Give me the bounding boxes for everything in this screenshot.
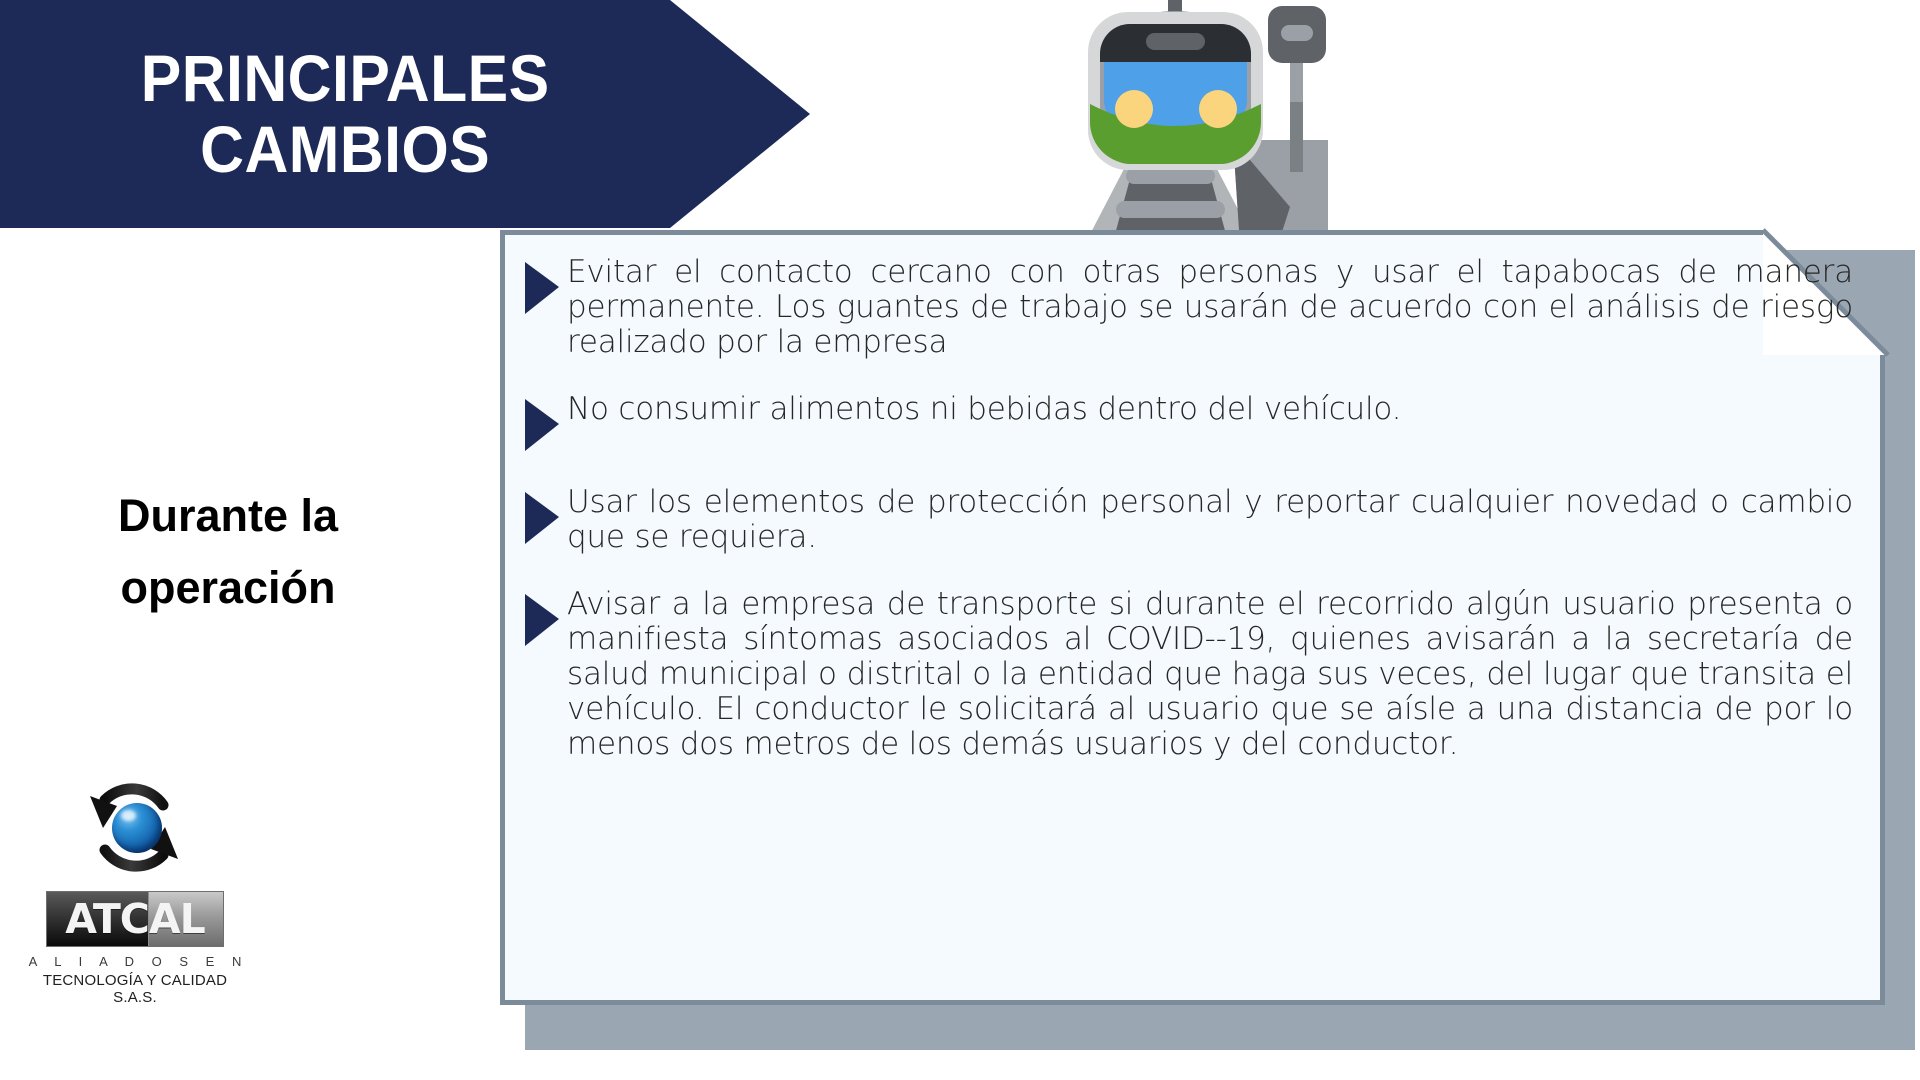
list-item-text: Evitar el contacto cercano con otras per… (567, 255, 1853, 360)
header-banner: PRINCIPALES CAMBIOS (0, 0, 810, 228)
triangle-bullet-icon (523, 260, 561, 316)
atcal-logo-mark (65, 770, 205, 885)
brand-logo: ATCAL A L I A D O S E N TECNOLOGÍA Y CAL… (20, 770, 250, 1006)
list-item: No consumir alimentos ni bebidas dentro … (523, 392, 1853, 453)
brand-tagline-line1: A L I A D O S E N (20, 954, 250, 969)
list-item: Usar los elementos de protección persona… (523, 485, 1853, 555)
triangle-bullet-icon (523, 397, 561, 453)
list-item-text: Usar los elementos de protección persona… (567, 485, 1853, 555)
brand-tagline-line2: TECNOLOGÍA Y CALIDAD S.A.S. (20, 972, 250, 1006)
list-item-text: Avisar a la empresa de transporte si dur… (567, 587, 1853, 762)
tram-train-icon (1028, 0, 1328, 260)
list-item: Evitar el contacto cercano con otras per… (523, 255, 1853, 360)
atcal-wordmark: ATCAL (46, 891, 224, 947)
bullet-list: Evitar el contacto cercano con otras per… (523, 255, 1853, 794)
list-item: Avisar a la empresa de transporte si dur… (523, 587, 1853, 762)
page-title: PRINCIPALES CAMBIOS (141, 43, 550, 186)
triangle-bullet-icon (523, 490, 561, 546)
section-label: Durante la operación (48, 480, 408, 624)
list-item-text: No consumir alimentos ni bebidas dentro … (567, 392, 1853, 427)
triangle-bullet-icon (523, 592, 561, 648)
wordmark-text: ATCAL (47, 892, 223, 946)
logo-sphere-icon (112, 803, 162, 853)
